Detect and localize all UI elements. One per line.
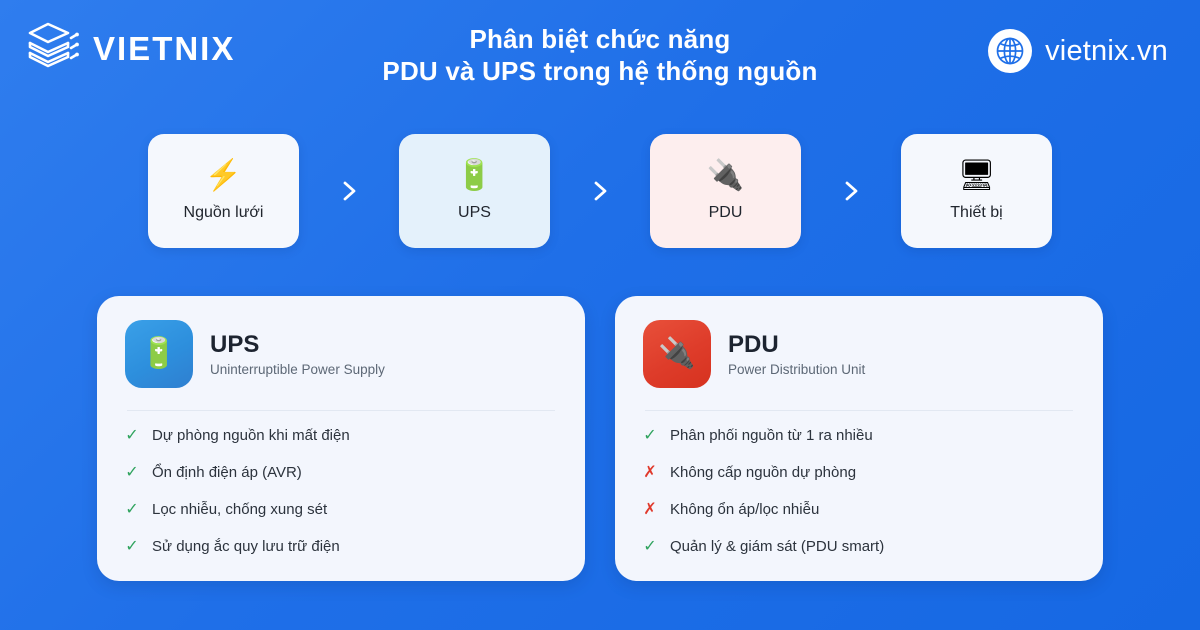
cross-icon: ✗ xyxy=(643,499,657,520)
list-item-text: Lọc nhiễu, chống xung sét xyxy=(152,499,327,520)
panel-subtitle: Power Distribution Unit xyxy=(728,362,865,377)
logo-text: VIETNIX xyxy=(93,32,235,65)
panel-ups: 🔋 UPS Uninterruptible Power Supply ✓ Dự … xyxy=(97,296,585,581)
check-icon: ✓ xyxy=(125,536,139,557)
chevron-right-icon xyxy=(331,173,367,209)
power-flow-diagram: ⚡ Nguồn lưới 🔋 UPS 🔌 PDU 🖥 Thiết bị xyxy=(148,134,1052,248)
chevron-right-icon xyxy=(833,173,869,209)
feature-list-pdu: ✓ Phân phối nguồn từ 1 ra nhiều ✗ Không … xyxy=(643,425,1075,573)
list-item: ✓ Lọc nhiễu, chống xung sét xyxy=(125,499,557,536)
flow-step-label: Thiết bị xyxy=(950,204,1002,222)
desktop-computer-icon: 🖥 xyxy=(957,160,995,192)
plug-icon: 🔌 xyxy=(707,160,744,192)
flow-step-label: Nguồn lưới xyxy=(184,204,264,222)
comparison-panels: 🔋 UPS Uninterruptible Power Supply ✓ Dự … xyxy=(97,296,1103,581)
check-icon: ✓ xyxy=(643,536,657,557)
stacked-layers-logo-icon xyxy=(26,20,80,76)
cross-icon: ✗ xyxy=(643,462,657,483)
panel-header: 🔌 PDU Power Distribution Unit xyxy=(643,320,1075,388)
list-item: ✓ Quản lý & giám sát (PDU smart) xyxy=(643,536,1075,573)
list-item-text: Sử dụng ắc quy lưu trữ điện xyxy=(152,536,340,557)
flow-step-thiet-bi[interactable]: 🖥 Thiết bị xyxy=(901,134,1052,248)
list-item: ✓ Dự phòng nguồn khi mất điện xyxy=(125,425,557,462)
flow-step-nguon-luoi[interactable]: ⚡ Nguồn lưới xyxy=(148,134,299,248)
divider xyxy=(127,410,555,411)
flow-step-ups[interactable]: 🔋 UPS xyxy=(399,134,550,248)
battery-icon: 🔋 xyxy=(456,160,493,192)
battery-icon: 🔋 xyxy=(125,320,193,388)
list-item-text: Không cấp nguồn dự phòng xyxy=(670,462,856,483)
check-icon: ✓ xyxy=(125,499,139,520)
list-item: ✓ Sử dụng ắc quy lưu trữ điện xyxy=(125,536,557,573)
list-item: ✗ Không ổn áp/lọc nhiễu xyxy=(643,499,1075,536)
website-badge[interactable]: vietnix.vn xyxy=(988,29,1168,73)
panel-title: PDU xyxy=(728,331,865,359)
flow-step-label: UPS xyxy=(458,204,491,222)
list-item-text: Không ổn áp/lọc nhiễu xyxy=(670,499,819,520)
flow-step-pdu[interactable]: 🔌 PDU xyxy=(650,134,801,248)
list-item-text: Ổn định điện áp (AVR) xyxy=(152,462,302,483)
header: VIETNIX Phân biệt chức năng PDU và UPS t… xyxy=(0,0,1200,108)
check-icon: ✓ xyxy=(125,462,139,483)
list-item: ✓ Ổn định điện áp (AVR) xyxy=(125,462,557,499)
check-icon: ✓ xyxy=(643,425,657,446)
list-item: ✓ Phân phối nguồn từ 1 ra nhiều xyxy=(643,425,1075,462)
check-icon: ✓ xyxy=(125,425,139,446)
panel-header: 🔋 UPS Uninterruptible Power Supply xyxy=(125,320,557,388)
high-voltage-icon: ⚡ xyxy=(205,160,242,192)
panel-title: UPS xyxy=(210,331,385,359)
list-item: ✗ Không cấp nguồn dự phòng xyxy=(643,462,1075,499)
divider xyxy=(645,410,1073,411)
plug-icon: 🔌 xyxy=(643,320,711,388)
website-text: vietnix.vn xyxy=(1045,35,1168,68)
brand-logo[interactable]: VIETNIX xyxy=(26,20,235,76)
flow-step-label: PDU xyxy=(709,204,743,222)
globe-icon xyxy=(988,29,1032,73)
panel-subtitle: Uninterruptible Power Supply xyxy=(210,362,385,377)
chevron-right-icon xyxy=(582,173,618,209)
list-item-text: Quản lý & giám sát (PDU smart) xyxy=(670,536,884,557)
feature-list-ups: ✓ Dự phòng nguồn khi mất điện ✓ Ổn định … xyxy=(125,425,557,573)
list-item-text: Phân phối nguồn từ 1 ra nhiều xyxy=(670,425,873,446)
panel-pdu: 🔌 PDU Power Distribution Unit ✓ Phân phố… xyxy=(615,296,1103,581)
list-item-text: Dự phòng nguồn khi mất điện xyxy=(152,425,350,446)
